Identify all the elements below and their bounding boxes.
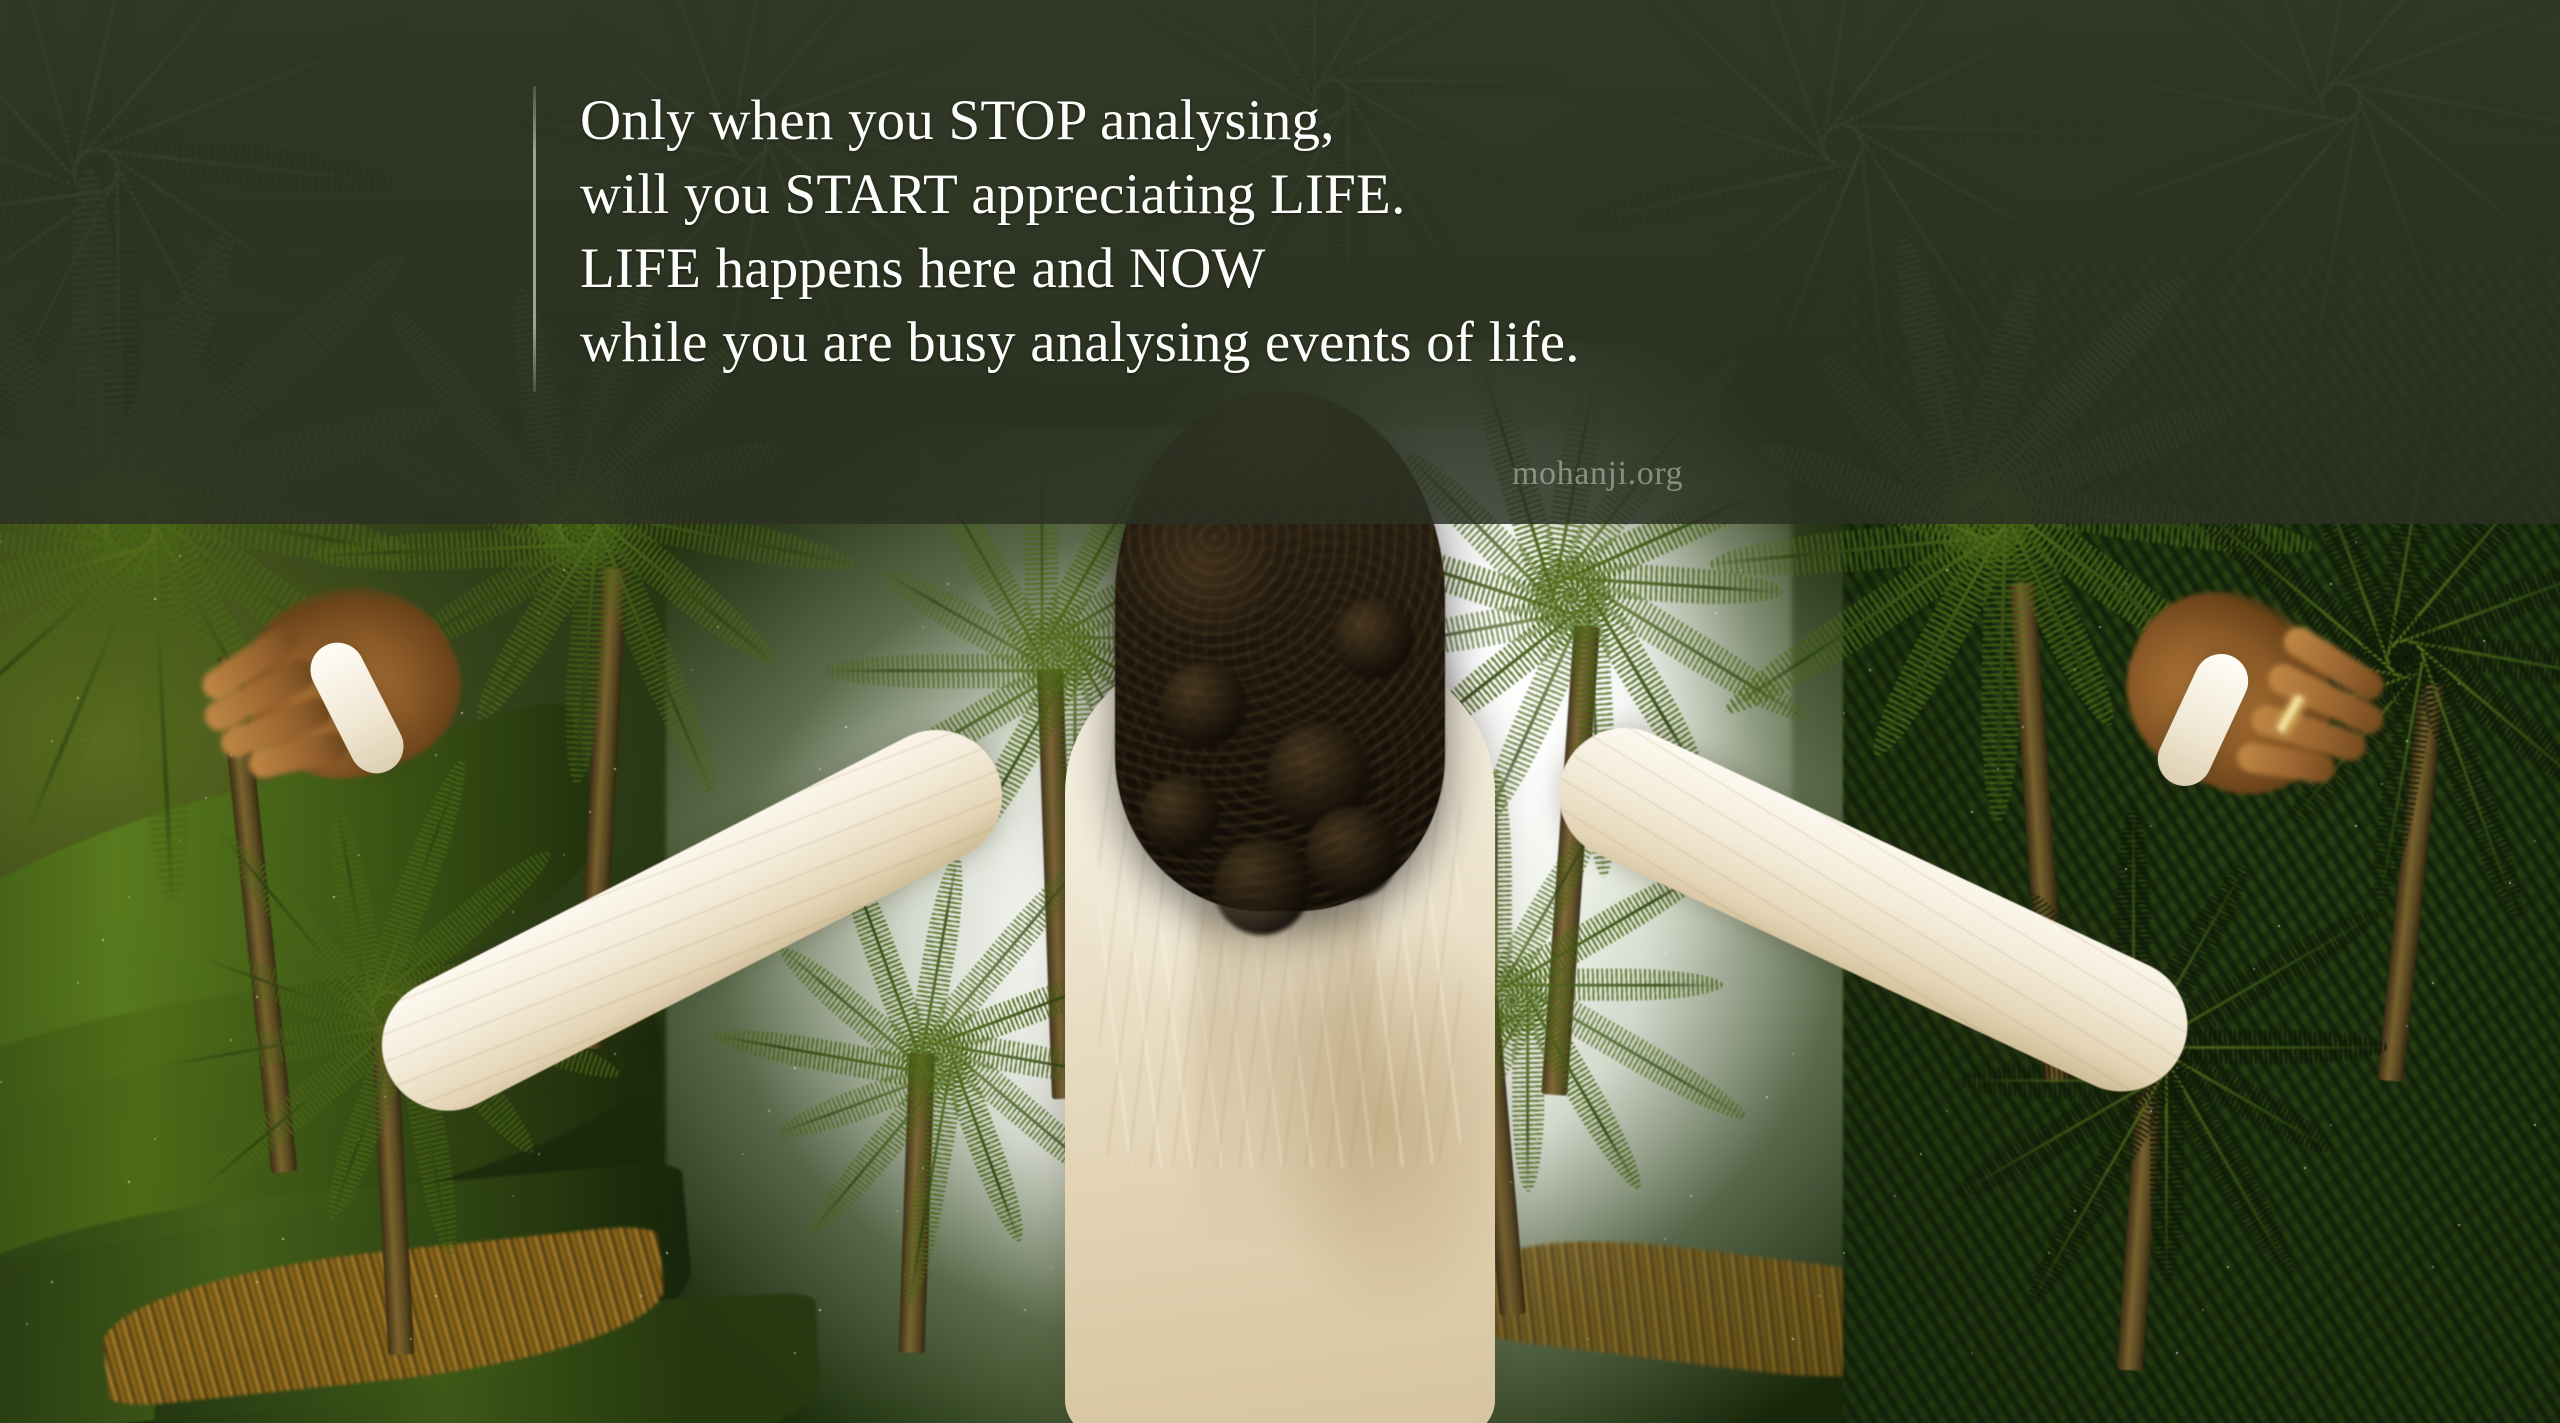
quote-text-block: Only when you STOP analysing, will you S…	[580, 84, 2360, 380]
quote-divider-rule	[533, 86, 536, 392]
site-watermark: mohanji.org	[1512, 455, 1683, 493]
quote-line-2: will you START appreciating LIFE.	[580, 158, 2360, 232]
quote-line-1: Only when you STOP analysing,	[580, 84, 2360, 158]
quote-line-3: LIFE happens here and NOW	[580, 232, 2360, 306]
right-arm	[1537, 706, 2209, 1113]
quote-poster: Only when you STOP analysing, will you S…	[0, 0, 2560, 1423]
quote-line-4: while you are busy analysing events of l…	[580, 306, 2360, 380]
left-arm	[359, 707, 1025, 1133]
